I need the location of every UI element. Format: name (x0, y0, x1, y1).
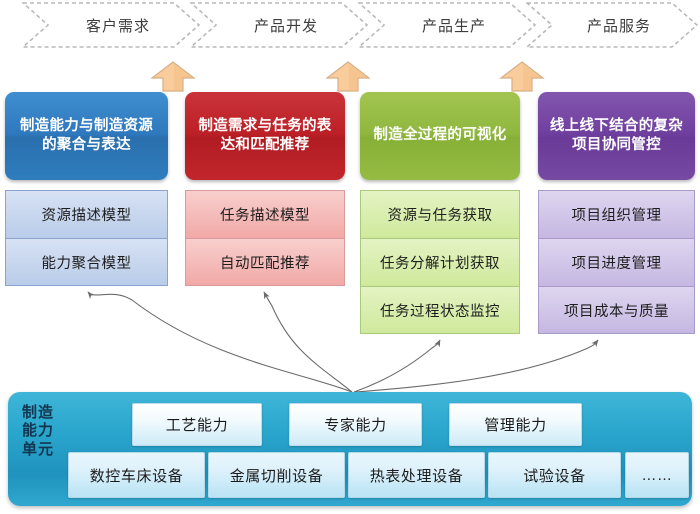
pillar-item-label: 项目组织管理 (572, 204, 662, 225)
pillar-item[interactable]: 能力聚合模型 (5, 238, 168, 286)
pillar-item[interactable]: 项目组织管理 (538, 190, 695, 238)
chevron-stage-2[interactable]: 产品生产 (358, 2, 536, 48)
pillar-header-demand-task-matching[interactable]: 制造需求与任务的表达和匹配推荐 (185, 92, 345, 180)
lifecycle-chevron-row: 客户需求 产品开发 产品生产 产品服务 (0, 0, 700, 56)
pillar-item[interactable]: 自动匹配推荐 (185, 238, 345, 286)
pillar-item[interactable]: 任务描述模型 (185, 190, 345, 238)
foundation-device-box-more[interactable]: …… (625, 452, 689, 498)
pillar-item-label: 自动匹配推荐 (220, 252, 310, 273)
pillar-item-label: 任务过程状态监控 (380, 300, 500, 321)
foundation-label: 制造 能力 单元 (22, 404, 68, 459)
pillar-item[interactable]: 任务过程状态监控 (360, 286, 520, 334)
pillar-item-label: 资源描述模型 (42, 204, 132, 225)
pillar-item-label: 资源与任务获取 (388, 204, 493, 225)
connector-curve-to-purple (356, 340, 598, 392)
chevron-stage-2-label: 产品生产 (408, 15, 486, 36)
pillar-header-label: 制造需求与任务的表达和匹配推荐 (194, 117, 336, 155)
pillar-item-label: 项目成本与质量 (564, 300, 669, 321)
foundation-capability-box[interactable]: 专家能力 (289, 403, 422, 446)
pillar-header-label: 制造全过程的可视化 (373, 126, 506, 145)
chevron-stage-0[interactable]: 客户需求 (22, 2, 200, 48)
foundation-capability-box[interactable]: 管理能力 (449, 403, 582, 446)
foundation-label-line-1: 能力 (22, 422, 68, 440)
pillar-item[interactable]: 资源描述模型 (5, 190, 168, 238)
foundation-label-line-0: 制造 (22, 404, 68, 422)
foundation-capability-box[interactable]: 工艺能力 (132, 403, 262, 446)
pillar-item-label: 能力聚合模型 (42, 252, 132, 273)
up-arrow-icon-0 (150, 60, 196, 92)
pillar-item[interactable]: 项目成本与质量 (538, 286, 695, 334)
pillar-header-label: 线上线下结合的复杂项目协同管控 (547, 117, 686, 155)
pillar-items-capability-aggregation: 资源描述模型 能力聚合模型 (5, 190, 168, 286)
connector-curve-to-green (354, 340, 440, 392)
foundation-label-line-2: 单元 (22, 441, 68, 459)
foundation-device-label: 试验设备 (523, 465, 585, 486)
pillar-item-label: 项目进度管理 (572, 252, 662, 273)
up-arrow-icon-2 (499, 60, 545, 92)
chevron-stage-3[interactable]: 产品服务 (526, 2, 698, 48)
pillar-items-process-visualization: 资源与任务获取 任务分解计划获取 任务过程状态监控 (360, 190, 520, 334)
pillar-item-label: 任务描述模型 (220, 204, 310, 225)
pillar-item-label: 任务分解计划获取 (380, 252, 500, 273)
foundation-capability-label: 管理能力 (484, 414, 546, 435)
up-arrow-icon-1 (325, 60, 371, 92)
foundation-device-label: …… (641, 467, 672, 484)
pillar-header-capability-aggregation[interactable]: 制造能力与制造资源的聚合与表达 (5, 92, 168, 180)
pillar-header-label: 制造能力与制造资源的聚合与表达 (14, 117, 159, 155)
chevron-stage-0-label: 客户需求 (72, 15, 150, 36)
diagram-canvas: 客户需求 产品开发 产品生产 产品服务 (0, 0, 700, 514)
chevron-stage-1[interactable]: 产品开发 (190, 2, 368, 48)
connector-curve-to-red (264, 292, 352, 392)
foundation-device-box[interactable]: 数控车床设备 (68, 452, 205, 498)
connector-curve-to-blue (88, 292, 352, 392)
pillar-item[interactable]: 项目进度管理 (538, 238, 695, 286)
foundation-capability-label: 工艺能力 (166, 414, 228, 435)
foundation-device-label: 热表处理设备 (370, 465, 464, 486)
pillar-items-demand-task-matching: 任务描述模型 自动匹配推荐 (185, 190, 345, 286)
foundation-device-box[interactable]: 热表处理设备 (348, 452, 485, 498)
foundation-device-box[interactable]: 试验设备 (488, 452, 621, 498)
foundation-device-label: 数控车床设备 (90, 465, 184, 486)
pillar-item[interactable]: 资源与任务获取 (360, 190, 520, 238)
pillar-header-project-collaboration[interactable]: 线上线下结合的复杂项目协同管控 (538, 92, 695, 180)
chevron-stage-1-label: 产品开发 (240, 15, 318, 36)
foundation-device-label: 金属切削设备 (230, 465, 324, 486)
foundation-capability-label: 专家能力 (324, 414, 386, 435)
pillar-header-process-visualization[interactable]: 制造全过程的可视化 (360, 92, 520, 180)
pillar-item[interactable]: 任务分解计划获取 (360, 238, 520, 286)
pillar-items-project-collaboration: 项目组织管理 项目进度管理 项目成本与质量 (538, 190, 695, 334)
foundation-device-box[interactable]: 金属切削设备 (208, 452, 345, 498)
chevron-stage-3-label: 产品服务 (573, 15, 651, 36)
